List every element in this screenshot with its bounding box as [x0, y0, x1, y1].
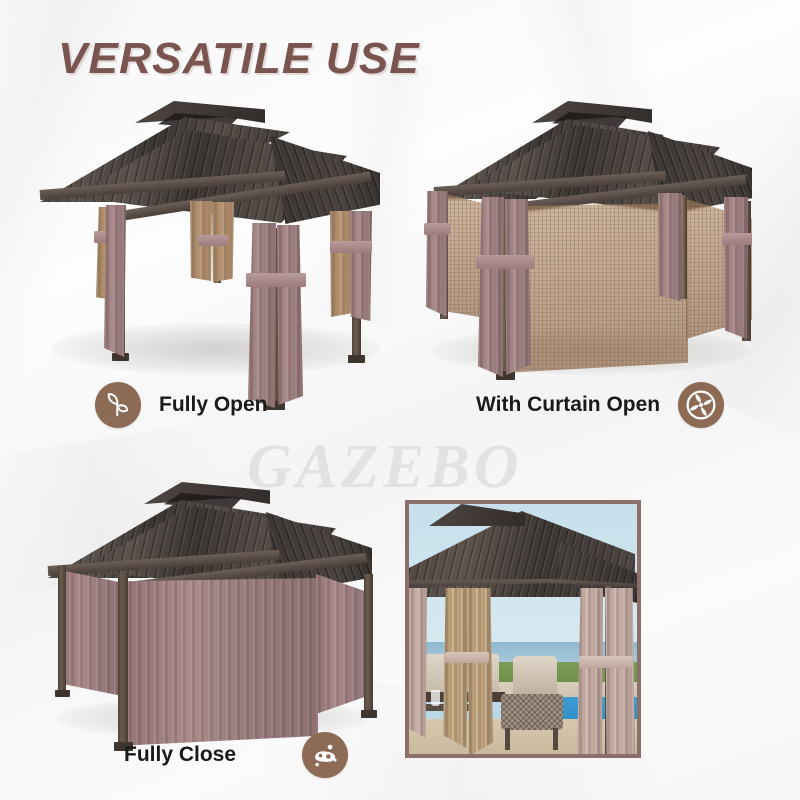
curtain-tieback — [424, 223, 450, 235]
curtain-tieback — [246, 273, 306, 287]
water-repellent-icon — [302, 732, 348, 778]
curtain-tieback — [476, 255, 534, 269]
curtain-tieback — [722, 233, 752, 245]
photo-curtain-left — [409, 588, 427, 738]
photo-glass — [431, 690, 440, 706]
curtain-tieback — [330, 241, 372, 253]
curtain-tied-front-left — [248, 223, 276, 408]
photo-chair-leg — [553, 728, 558, 750]
curtain-tied-front-right — [505, 199, 531, 375]
curtain-tied-front-right — [277, 225, 303, 405]
page-title: VERSATILE USE — [58, 34, 420, 84]
curtain-tied-left-outer — [426, 191, 448, 317]
curtain-wall-front — [118, 578, 318, 746]
product-feature-poster: GAZEBO VERSATILE USE — [0, 0, 800, 800]
gazebo-illustration-fully-open — [30, 95, 400, 380]
leaf-icon — [95, 382, 141, 428]
ground-shadow — [50, 323, 380, 375]
feature-fully-close[interactable]: Fully Close — [124, 732, 348, 778]
feature-with-curtain-open[interactable]: With Curtain Open — [476, 382, 724, 428]
photo-chair-seat — [501, 694, 563, 730]
post-foot — [55, 690, 70, 697]
photo-curtain-tan-left — [443, 588, 469, 748]
feature-label: Fully Close — [124, 743, 236, 767]
photo-curtain-tieback — [579, 656, 633, 668]
feature-label: With Curtain Open — [476, 393, 660, 417]
post-foot — [361, 710, 377, 718]
curtain-tieback — [198, 235, 228, 246]
curtain-tied-right — [724, 197, 748, 339]
fan-ventilation-icon — [678, 382, 724, 428]
gazebo-illustration-fully-close — [34, 478, 404, 738]
photo-curtain-tan-right — [467, 588, 493, 756]
corner-post-left — [58, 566, 66, 694]
curtain-tied-right — [350, 211, 372, 321]
feature-fully-open[interactable]: Fully Open — [95, 382, 268, 428]
photo-curtain-right-outer — [605, 588, 635, 758]
curtain-tied-rear — [658, 193, 682, 301]
lifestyle-photo — [405, 500, 641, 758]
corner-post-front-left — [118, 574, 128, 746]
photo-curtain-tieback — [445, 652, 489, 663]
gazebo-illustration-with-curtain-open — [412, 95, 772, 380]
curtain-wall-left — [60, 570, 122, 696]
curtain-tied-front-left — [478, 197, 504, 377]
post-foot — [348, 355, 365, 363]
corner-post-right — [364, 574, 373, 714]
feature-label: Fully Open — [159, 393, 268, 417]
photo-curtain-right-inner — [577, 588, 603, 758]
curtain-tied-left — [104, 205, 126, 357]
photo-chair-leg — [505, 728, 510, 750]
